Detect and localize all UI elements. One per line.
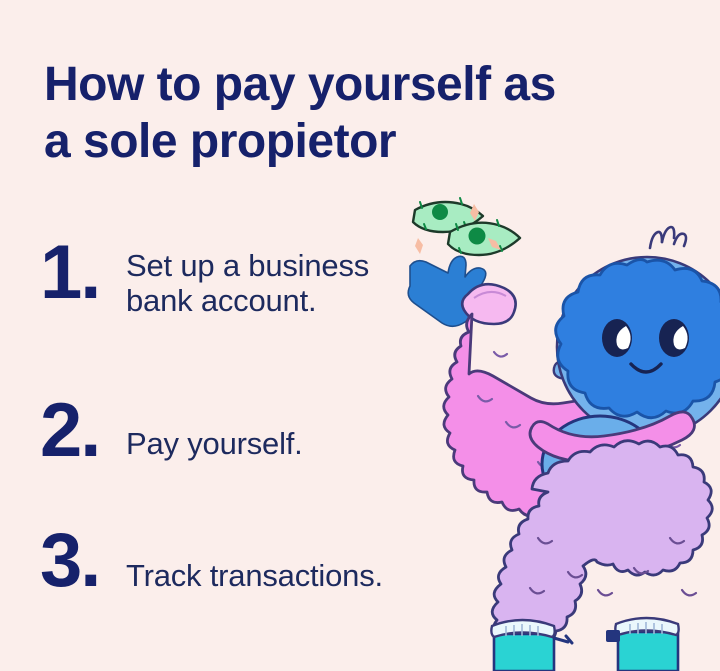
monster-illustration — [398, 186, 720, 671]
hair-tufts-icon — [650, 227, 686, 248]
step-number: 2. — [40, 398, 126, 463]
boot-icon — [491, 618, 678, 671]
poster-canvas: How to pay yourself as a sole propietor … — [0, 0, 720, 671]
step-label: Track transactions. — [126, 528, 383, 593]
page-title: How to pay yourself as a sole propietor — [44, 57, 664, 170]
list-item: 2. Pay yourself. — [40, 398, 303, 463]
list-item: 3. Track transactions. — [40, 528, 383, 593]
step-label: Pay yourself. — [126, 398, 303, 461]
step-number: 1. — [40, 240, 126, 305]
list-item: 1. Set up a business bank account. — [40, 240, 369, 319]
money-icon — [413, 198, 520, 255]
step-label: Set up a business bank account. — [126, 240, 369, 319]
step-number: 3. — [40, 528, 126, 593]
